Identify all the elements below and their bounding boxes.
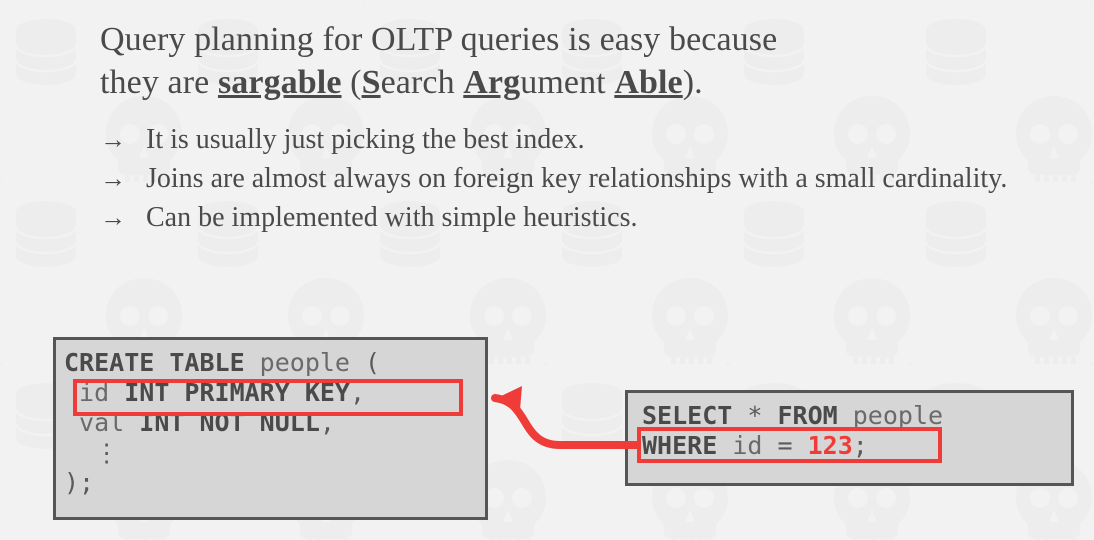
code-line: ⋮ bbox=[64, 438, 485, 468]
code-line: id INT PRIMARY KEY, bbox=[64, 378, 485, 408]
code-block-create-table: CREATE TABLE people ( id INT PRIMARY KEY… bbox=[53, 337, 488, 520]
sql-literal: 123 bbox=[808, 431, 853, 460]
sql-punct: = bbox=[777, 431, 807, 460]
slide-content: Query planning for OLTP queries is easy … bbox=[0, 0, 1094, 540]
sql-identifier: people bbox=[245, 348, 365, 377]
sql-punct: ; bbox=[853, 431, 868, 460]
list-item: → Can be implemented with simple heurist… bbox=[100, 200, 1030, 237]
list-item-label: Joins are almost always on foreign key r… bbox=[146, 161, 1030, 198]
code-line: SELECT * FROM people bbox=[642, 401, 1071, 431]
page-title: Query planning for OLTP queries is easy … bbox=[100, 18, 1000, 104]
sql-identifier: people bbox=[838, 401, 943, 430]
heading-term-sargable: sargable bbox=[218, 64, 342, 101]
sql-identifier: val bbox=[64, 408, 139, 437]
code-line: WHERE id = 123; bbox=[642, 431, 1071, 461]
heading-word-ument: ument bbox=[520, 64, 614, 101]
heading-line-2-prefix: they are bbox=[100, 64, 218, 101]
sql-punct: , bbox=[320, 408, 335, 437]
list-item: → It is usually just picking the best in… bbox=[100, 122, 1030, 159]
heading-term-able: Able bbox=[614, 64, 682, 101]
heading-paren-close: ). bbox=[683, 64, 703, 101]
sql-keyword: CREATE TABLE bbox=[64, 348, 245, 377]
code-line: CREATE TABLE people ( bbox=[64, 348, 485, 378]
heading-term-s: S bbox=[362, 64, 381, 101]
heading-word-earch: earch bbox=[381, 64, 464, 101]
sql-identifier: id bbox=[64, 378, 124, 407]
vertical-ellipsis-icon: ⋮ bbox=[94, 438, 119, 468]
heading-line-1: Query planning for OLTP queries is easy … bbox=[100, 21, 777, 58]
sql-keyword: FROM bbox=[777, 401, 837, 430]
sql-keyword: SELECT bbox=[642, 401, 732, 430]
sql-keyword: WHERE bbox=[642, 431, 717, 460]
code-line: val INT NOT NULL, bbox=[64, 408, 485, 438]
arrow-right-icon: → bbox=[100, 122, 146, 158]
sql-punct: * bbox=[732, 401, 777, 430]
sql-keyword: INT PRIMARY KEY bbox=[124, 378, 350, 407]
sql-keyword: INT NOT NULL bbox=[139, 408, 320, 437]
list-item-label: It is usually just picking the best inde… bbox=[146, 122, 1030, 159]
sql-identifier: id bbox=[717, 431, 777, 460]
code-line: ); bbox=[64, 468, 485, 498]
heading-term-arg: Arg bbox=[463, 64, 520, 101]
list-item: → Joins are almost always on foreign key… bbox=[100, 161, 1030, 198]
heading-paren-open: ( bbox=[342, 64, 362, 101]
code-block-select: SELECT * FROM people WHERE id = 123; bbox=[625, 390, 1074, 486]
arrow-right-icon: → bbox=[100, 161, 146, 197]
list-item-label: Can be implemented with simple heuristic… bbox=[146, 200, 1030, 237]
bullet-list: → It is usually just picking the best in… bbox=[100, 122, 1030, 239]
sql-punct: , bbox=[350, 378, 365, 407]
sql-punct: ( bbox=[365, 348, 380, 377]
sql-punct: ); bbox=[64, 468, 94, 497]
arrow-right-icon: → bbox=[100, 200, 146, 236]
